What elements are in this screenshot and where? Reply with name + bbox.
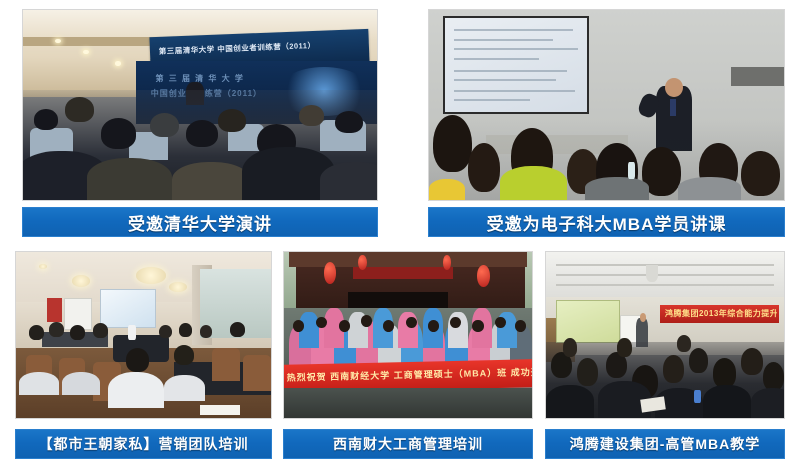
caption-swufe-business-admin[interactable]: 西南财大工商管理培训 (283, 429, 533, 459)
projector-screen (443, 16, 589, 115)
caption-dushi-wangchao-furniture[interactable]: 【都市王朝家私】营销团队培训 (15, 429, 272, 459)
caption-label: 受邀清华大学演讲 (128, 210, 272, 235)
caption-label: 鸿腾建设集团-高管MBA教学 (570, 434, 761, 454)
banner-hongteng: 鸿腾集团2013年综合能力提升培训 (660, 305, 779, 323)
caption-label: 西南财大工商管理培训 (333, 434, 483, 454)
gallery-card-dushi-wangchao-furniture[interactable]: 【都市王朝家私】营销团队培训 (15, 251, 272, 459)
photo-hongteng-group-mba[interactable]: 鸿腾集团2013年综合能力提升培训 (545, 251, 785, 419)
projector-screen (556, 300, 620, 343)
projector-screen (100, 289, 156, 329)
photo-tsinghua-lecture[interactable]: 第三届清华大学 中国创业者训练营（2011） 第 三 届 清 华 大 学 中国创… (22, 9, 378, 201)
photo-uestc-mba-class[interactable] (428, 9, 785, 201)
gallery-page: 第三届清华大学 中国创业者训练营（2011） 第 三 届 清 华 大 学 中国创… (0, 0, 800, 467)
caption-tsinghua-lecture[interactable]: 受邀清华大学演讲 (22, 207, 378, 237)
caption-label: 受邀为电子科大MBA学员讲课 (487, 210, 727, 235)
banner-text-swufe: 热烈祝贺 西南财经大学 工商管理硕士（MBA）班 成功开课 (287, 364, 532, 383)
gallery-card-swufe-business-admin[interactable]: 热烈祝贺 西南财经大学 工商管理硕士（MBA）班 成功开课 西南财大工商管理培训 (283, 251, 533, 459)
photo-swufe-business-admin[interactable]: 热烈祝贺 西南财经大学 工商管理硕士（MBA）班 成功开课 (283, 251, 533, 419)
gallery-card-tsinghua-lecture[interactable]: 第三届清华大学 中国创业者训练营（2011） 第 三 届 清 华 大 学 中国创… (22, 9, 378, 237)
caption-label: 【都市王朝家私】营销团队培训 (39, 434, 249, 454)
gallery-card-uestc-mba-class[interactable]: 受邀为电子科大MBA学员讲课 (428, 9, 785, 237)
banner-text-tsinghua: 第三届清华大学 中国创业者训练营（2011） (159, 38, 363, 57)
caption-hongteng-group-mba[interactable]: 鸿腾建设集团-高管MBA教学 (545, 429, 785, 459)
caption-uestc-mba-class[interactable]: 受邀为电子科大MBA学员讲课 (428, 207, 785, 237)
photo-dushi-wangchao-furniture[interactable] (15, 251, 272, 419)
banner-text-hongteng: 鸿腾集团2013年综合能力提升培训 (665, 308, 777, 319)
gallery-card-hongteng-group-mba[interactable]: 鸿腾集团2013年综合能力提升培训 (545, 251, 785, 459)
